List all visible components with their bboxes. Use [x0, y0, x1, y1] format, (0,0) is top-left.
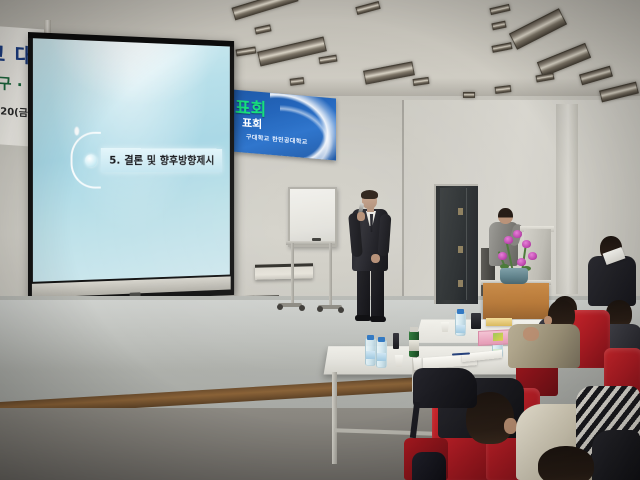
screen-surface: 5. 결론 및 향후방향제시: [33, 38, 230, 282]
wall-corner-seam: [402, 100, 404, 308]
presenter-shoe-left: [355, 315, 371, 321]
water-bottle: [365, 338, 376, 366]
projector-hotspot: [45, 38, 226, 110]
ceiling-light-fixture: [463, 92, 475, 98]
whiteboard-caster-wheel: [277, 304, 283, 310]
orchid-bloom: [504, 236, 513, 244]
slide-accent-dot: [85, 154, 97, 167]
whiteboard-leg: [291, 243, 294, 305]
bottle-label: [366, 351, 375, 359]
orchid-bloom: [513, 230, 522, 238]
presenter-shoe-right: [370, 316, 386, 322]
whiteboard-caster-wheel: [338, 307, 344, 313]
door-leaf[interactable]: [440, 188, 467, 300]
door-hinge: [458, 246, 463, 253]
bottle-cap: [457, 309, 464, 314]
wall-column: [556, 104, 578, 294]
photo-scene: 고 대 대구 · 1. 20(금) 1 표회 표회 구대학교 한민공대학교 5.…: [0, 0, 640, 480]
podium-desk: [483, 283, 549, 319]
presenter-hand-lower: [371, 254, 380, 263]
presenter-hair: [361, 190, 378, 199]
presenter-hand-holding-mic: [357, 212, 365, 221]
table-leg: [332, 372, 337, 464]
right-banner-line2: 표회: [242, 114, 262, 132]
bottle-label: [409, 340, 419, 351]
open-doorway[interactable]: [434, 184, 478, 304]
bottle-cap: [367, 335, 374, 340]
audience-torso: [588, 256, 636, 306]
audience-head: [538, 446, 594, 480]
bag-under-table: [413, 368, 477, 408]
presenter-leg-right: [371, 266, 384, 318]
audience-dark-coat: [592, 430, 640, 480]
whiteboard-marker: [312, 238, 321, 241]
right-blue-banner: 표회 표회 구대학교 한민공대학교: [232, 89, 336, 160]
door-hinge: [458, 208, 463, 215]
banner-swoosh-graphic-2: [280, 100, 336, 161]
presenter-leg-left: [357, 266, 370, 318]
bottle-cap: [410, 327, 418, 332]
dark-device[interactable]: [393, 333, 399, 349]
green-bottle: [409, 331, 419, 357]
radiator-cabinet-unit: [255, 263, 313, 280]
audience-torso-tan-jacket: [508, 324, 580, 368]
door-hinge: [458, 280, 463, 287]
bottle-cap: [378, 337, 385, 342]
audience-torso: [412, 452, 446, 480]
dark-device[interactable]: [471, 313, 481, 329]
moderator-head: [498, 208, 513, 224]
whiteboard-caster-wheel: [299, 305, 305, 311]
whiteboard-caster-wheel: [317, 306, 323, 312]
slide-accent-dot-small: [74, 126, 79, 135]
slide-title-box: 5. 결론 및 향후방향제시: [101, 148, 222, 172]
pink-box-graphic: [493, 333, 503, 342]
snack-tray: [486, 318, 512, 326]
orchid-bloom: [517, 258, 526, 266]
whiteboard-leg: [329, 243, 332, 307]
orchid-pot: [500, 268, 528, 284]
water-bottle: [376, 340, 387, 368]
audience-hand: [523, 327, 539, 341]
bottle-label: [456, 325, 465, 333]
projection-screen: 5. 결론 및 향후방향제시: [28, 32, 234, 304]
bottle-label: [377, 353, 386, 361]
water-bottle: [455, 312, 466, 336]
slide-title-text: 5. 결론 및 향후방향제시: [109, 152, 214, 168]
orchid-bloom: [522, 240, 531, 248]
orchid-bloom: [528, 252, 537, 260]
orchid-bloom: [498, 252, 507, 260]
